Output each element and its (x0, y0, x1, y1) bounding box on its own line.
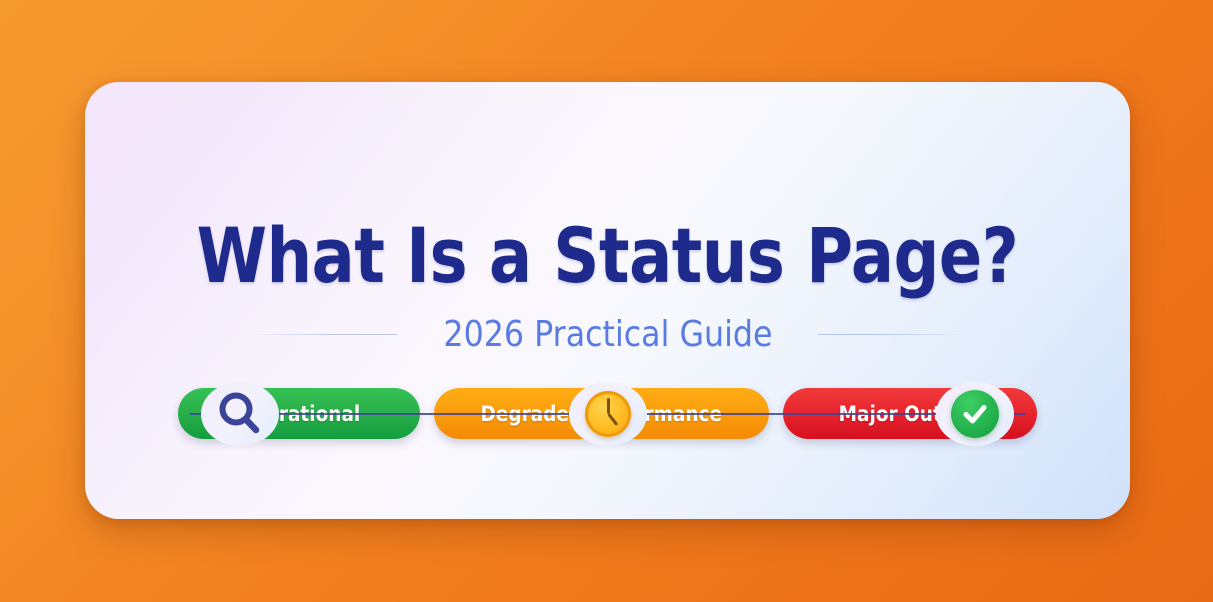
subtitle-rule-left (247, 334, 397, 335)
timeline-step-investigating[interactable] (208, 382, 272, 446)
incident-timeline (190, 382, 1025, 492)
timeline-step-resolved[interactable] (943, 382, 1007, 446)
timeline-step-monitoring[interactable] (576, 382, 640, 446)
timeline-node-group (190, 382, 1025, 446)
magnifying-glass-icon (214, 388, 266, 440)
check-mark-icon (960, 399, 990, 429)
subtitle-row: 2026 Practical Guide (85, 310, 1130, 358)
page-subtitle: 2026 Practical Guide (443, 314, 772, 355)
page-title: What Is a Status Page? (169, 218, 1047, 294)
check-circle-icon (951, 390, 999, 438)
clock-icon (585, 391, 631, 437)
status-page-card: What Is a Status Page? 2026 Practical Gu… (85, 82, 1130, 519)
subtitle-rule-right (818, 334, 968, 335)
